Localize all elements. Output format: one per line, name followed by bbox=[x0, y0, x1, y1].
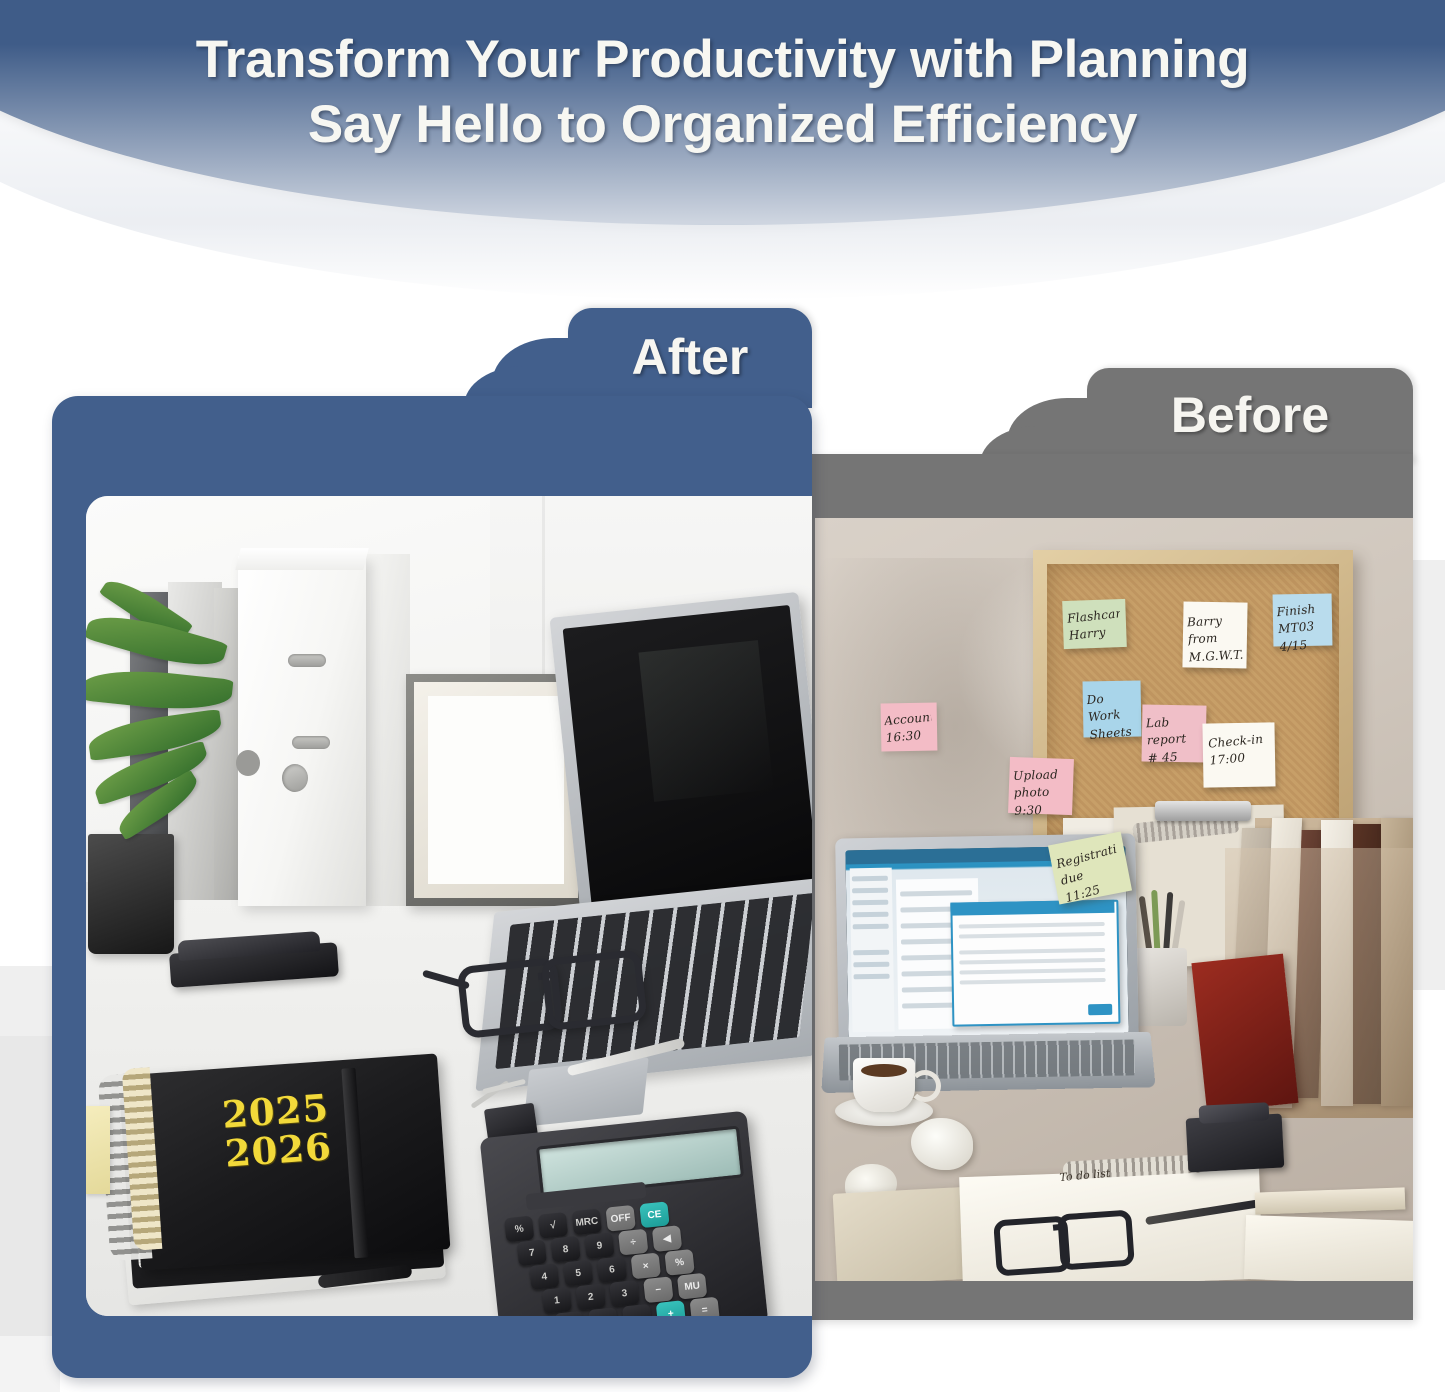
calculator-key: 1 bbox=[542, 1287, 572, 1314]
sticky-note-lab-report: Lab report # 45 bbox=[1142, 704, 1207, 762]
comparison-graphic: Transform Your Productivity with Plannin… bbox=[0, 0, 1445, 1392]
calculator-key: + bbox=[656, 1300, 686, 1316]
sticky-note-text: Check-in 17:00 bbox=[1207, 731, 1270, 771]
calculator-key: MRC bbox=[572, 1208, 602, 1235]
page-title: Transform Your Productivity with Plannin… bbox=[0, 28, 1445, 157]
calculator-key: . bbox=[622, 1304, 652, 1316]
sidebar-row bbox=[852, 876, 888, 882]
sticky-note-accountant: Accountant 16:30 bbox=[881, 703, 938, 752]
calculator-keypad: %√MRCOFFCE789÷◀456×%123−MU000.+= bbox=[480, 1111, 769, 1316]
binder-label-slot bbox=[288, 654, 326, 667]
before-tab-label: Before bbox=[1087, 386, 1413, 444]
sticky-note-flashcards: Flashcards Harry bbox=[1062, 599, 1127, 649]
calculator-key: 9 bbox=[584, 1232, 614, 1259]
sidebar-row bbox=[853, 950, 889, 956]
binder-finger-hole bbox=[236, 750, 260, 776]
calculator-key: 8 bbox=[550, 1236, 580, 1263]
calculator-key: % bbox=[664, 1249, 694, 1276]
after-laptop-screen-glare bbox=[638, 640, 773, 802]
calculator-key: 7 bbox=[517, 1239, 547, 1266]
after-glasses-right-lens bbox=[541, 949, 648, 1031]
before-photo: Flashcards Harry Barry from M.G.W.T. Fin… bbox=[815, 518, 1413, 1281]
calculator-key: − bbox=[643, 1276, 673, 1303]
calculator-key: OFF bbox=[605, 1205, 635, 1232]
white-binder-top bbox=[235, 548, 368, 570]
sticky-note-checkin: Check-in 17:00 bbox=[1202, 722, 1275, 787]
sticky-note-text: Accountant 16:30 bbox=[884, 709, 934, 748]
plant-pot bbox=[88, 834, 174, 954]
sticky-note-text: Upload photo 9:30 bbox=[1013, 766, 1069, 820]
crumpled-paper bbox=[911, 1118, 973, 1170]
white-binder bbox=[238, 556, 366, 906]
calculator-key: ◀ bbox=[652, 1225, 682, 1252]
calculator-key: 2 bbox=[576, 1283, 606, 1310]
sticky-note-text: Finish MT03 4/15 bbox=[1276, 600, 1330, 656]
calculator-key: = bbox=[690, 1297, 720, 1316]
sidebar-row bbox=[854, 974, 890, 980]
calculator-key: × bbox=[631, 1253, 661, 1280]
page-title-line-2: Say Hello to Organized Efficiency bbox=[0, 93, 1445, 158]
after-sticky-note bbox=[86, 1106, 110, 1194]
sticky-note-text: Lab report # 45 bbox=[1146, 713, 1202, 768]
sidebar-row bbox=[852, 912, 888, 918]
sidebar-row bbox=[852, 900, 888, 906]
sidebar-row bbox=[852, 888, 888, 894]
page-title-line-1: Transform Your Productivity with Plannin… bbox=[0, 28, 1445, 93]
sticky-note-text: Barry from M.G.W.T. bbox=[1187, 611, 1243, 666]
calculator-key: 3 bbox=[609, 1280, 639, 1307]
planner-year-text: 2025 2026 bbox=[189, 1086, 364, 1176]
binder-finger-hole bbox=[282, 764, 308, 792]
after-tab-label: After bbox=[568, 328, 812, 386]
sticky-note-text: Do Work Sheets bbox=[1086, 688, 1139, 744]
picture-frame-mat bbox=[428, 696, 564, 884]
calculator-key: MU bbox=[677, 1273, 707, 1300]
hole-punch-lever bbox=[1199, 1102, 1270, 1124]
coffee-liquid bbox=[861, 1064, 907, 1077]
send-button bbox=[1088, 1004, 1112, 1015]
calculator-key: % bbox=[504, 1216, 534, 1243]
loose-paper bbox=[1244, 1215, 1413, 1281]
sidebar-row bbox=[853, 962, 889, 968]
coffee-cup-handle bbox=[909, 1070, 941, 1102]
sticky-note-text: Flashcards Harry bbox=[1066, 605, 1122, 645]
pen-cup bbox=[1133, 948, 1187, 1026]
sticky-note-worksheets: Do Work Sheets bbox=[1083, 680, 1142, 737]
calculator-key: 6 bbox=[597, 1256, 627, 1283]
before-glasses-right-lens bbox=[1057, 1209, 1135, 1270]
background-band-bottom-left bbox=[0, 1336, 60, 1392]
sticky-note-upload-photo: Upload photo 9:30 bbox=[1008, 757, 1074, 815]
before-panel: Before Flashcards Harry Barry from M.G.W… bbox=[800, 368, 1413, 1320]
clipboard-clip bbox=[1155, 801, 1251, 821]
after-panel: After bbox=[52, 308, 812, 1378]
calculator-key: 5 bbox=[563, 1260, 593, 1287]
after-photo: 2025 2026 %√MRCOFFCE789÷◀456×%123−MU000.… bbox=[86, 496, 812, 1316]
sidebar-row bbox=[853, 924, 889, 930]
binder-label-slot bbox=[292, 736, 330, 749]
red-notebook bbox=[1191, 954, 1298, 1113]
calculator-key: 4 bbox=[529, 1263, 559, 1290]
calculator-key: ÷ bbox=[618, 1229, 648, 1256]
calculator-key: CE bbox=[639, 1201, 669, 1228]
sticky-note-barry: Barry from M.G.W.T. bbox=[1182, 601, 1247, 668]
sticky-note-finish: Finish MT03 4/15 bbox=[1273, 593, 1333, 646]
calculator-key: √ bbox=[538, 1212, 568, 1239]
